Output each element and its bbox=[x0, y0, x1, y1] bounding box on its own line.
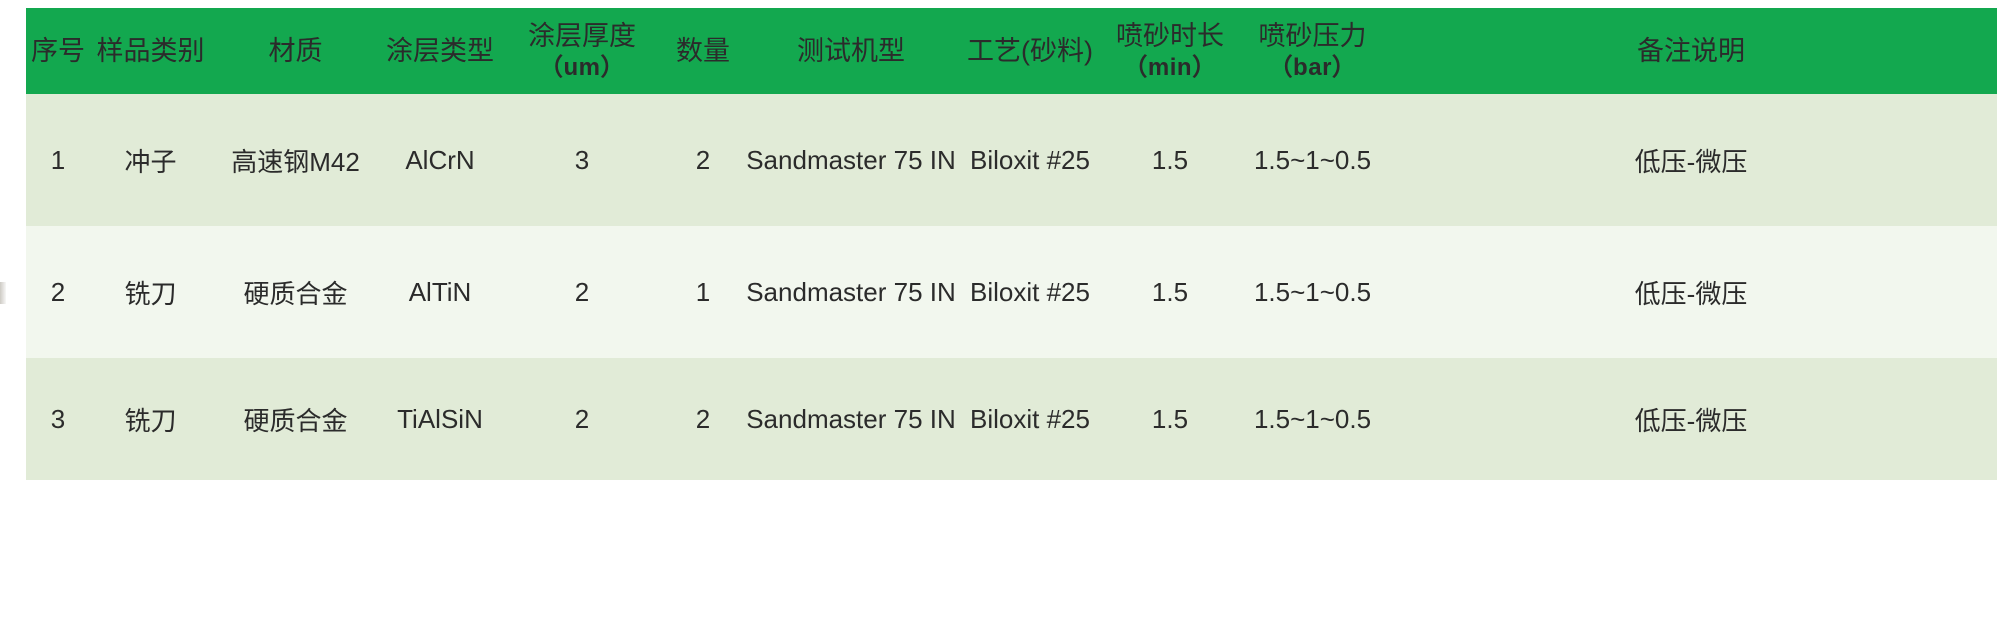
cell-remark[interactable]: 低压-微压 bbox=[1385, 94, 1997, 226]
cell-quantity[interactable]: 1 bbox=[664, 226, 742, 358]
column-header-pressure-label: 喷砂压力 bbox=[1259, 21, 1367, 51]
table-row[interactable]: 2 铣刀 硬质合金 AlTiN 2 1 Sandmaster 75 IN Bil… bbox=[26, 226, 1997, 358]
cell-process[interactable]: Biloxit #25 bbox=[960, 358, 1100, 480]
column-header-machine[interactable]: 测试机型 bbox=[742, 8, 960, 94]
column-header-remark[interactable]: 备注说明 bbox=[1385, 8, 1997, 94]
column-header-duration-unit: （min） bbox=[1104, 53, 1236, 82]
column-header-duration-label: 喷砂时长 bbox=[1116, 21, 1224, 51]
spreadsheet-canvas: 序号 样品类别 材质 涂层类型 涂层厚度 （um） 数量 bbox=[0, 0, 2015, 637]
cell-machine[interactable]: Sandmaster 75 IN bbox=[742, 226, 960, 358]
header-row: 序号 样品类别 材质 涂层类型 涂层厚度 （um） 数量 bbox=[26, 8, 1997, 94]
cell-machine[interactable]: Sandmaster 75 IN bbox=[742, 358, 960, 480]
cell-pressure[interactable]: 1.5~1~0.5 bbox=[1240, 94, 1385, 226]
column-header-quantity[interactable]: 数量 bbox=[664, 8, 742, 94]
cell-remark[interactable]: 低压-微压 bbox=[1385, 226, 1997, 358]
column-header-machine-label: 测试机型 bbox=[797, 36, 905, 66]
column-header-thickness-unit: （um） bbox=[504, 53, 660, 82]
cell-seq[interactable]: 2 bbox=[26, 226, 90, 358]
sandblasting-test-plan-table: 序号 样品类别 材质 涂层类型 涂层厚度 （um） 数量 bbox=[26, 8, 1997, 480]
cell-material[interactable]: 高速钢M42 bbox=[211, 94, 380, 226]
column-header-material-label: 材质 bbox=[269, 36, 323, 66]
column-header-pressure-unit: （bar） bbox=[1244, 53, 1381, 82]
cell-quantity[interactable]: 2 bbox=[664, 358, 742, 480]
cell-remark[interactable]: 低压-微压 bbox=[1385, 358, 1997, 480]
cell-category[interactable]: 铣刀 bbox=[90, 358, 211, 480]
column-header-duration[interactable]: 喷砂时长 （min） bbox=[1100, 8, 1240, 94]
cell-category[interactable]: 冲子 bbox=[90, 94, 211, 226]
cell-seq[interactable]: 1 bbox=[26, 94, 90, 226]
column-header-seq[interactable]: 序号 bbox=[26, 8, 90, 94]
column-header-process-label: 工艺(砂料) bbox=[967, 36, 1093, 66]
table-row[interactable]: 1 冲子 高速钢M42 AlCrN 3 2 Sandmaster 75 IN B… bbox=[26, 94, 1997, 226]
column-header-material[interactable]: 材质 bbox=[211, 8, 380, 94]
clipped-edge-glyph bbox=[0, 282, 6, 304]
column-header-quantity-label: 数量 bbox=[676, 36, 730, 66]
column-header-remark-label: 备注说明 bbox=[1637, 36, 1745, 66]
column-header-category[interactable]: 样品类别 bbox=[90, 8, 211, 94]
cell-coating[interactable]: AlTiN bbox=[380, 226, 500, 358]
cell-pressure[interactable]: 1.5~1~0.5 bbox=[1240, 226, 1385, 358]
cell-process[interactable]: Biloxit #25 bbox=[960, 94, 1100, 226]
cell-thickness[interactable]: 2 bbox=[500, 358, 664, 480]
table-header: 序号 样品类别 材质 涂层类型 涂层厚度 （um） 数量 bbox=[26, 8, 1997, 94]
column-header-pressure[interactable]: 喷砂压力 （bar） bbox=[1240, 8, 1385, 94]
cell-thickness[interactable]: 3 bbox=[500, 94, 664, 226]
cell-seq[interactable]: 3 bbox=[26, 358, 90, 480]
cell-coating[interactable]: AlCrN bbox=[380, 94, 500, 226]
cell-machine[interactable]: Sandmaster 75 IN bbox=[742, 94, 960, 226]
column-header-coating[interactable]: 涂层类型 bbox=[380, 8, 500, 94]
cell-coating[interactable]: TiAlSiN bbox=[380, 358, 500, 480]
cell-material[interactable]: 硬质合金 bbox=[211, 358, 380, 480]
cell-thickness[interactable]: 2 bbox=[500, 226, 664, 358]
column-header-process[interactable]: 工艺(砂料) bbox=[960, 8, 1100, 94]
column-header-thickness[interactable]: 涂层厚度 （um） bbox=[500, 8, 664, 94]
column-header-seq-label: 序号 bbox=[31, 36, 85, 66]
cell-duration[interactable]: 1.5 bbox=[1100, 226, 1240, 358]
table-row[interactable]: 3 铣刀 硬质合金 TiAlSiN 2 2 Sandmaster 75 IN B… bbox=[26, 358, 1997, 480]
cell-pressure[interactable]: 1.5~1~0.5 bbox=[1240, 358, 1385, 480]
cell-duration[interactable]: 1.5 bbox=[1100, 358, 1240, 480]
column-header-thickness-label: 涂层厚度 bbox=[528, 21, 636, 51]
table-body: 1 冲子 高速钢M42 AlCrN 3 2 Sandmaster 75 IN B… bbox=[26, 94, 1997, 480]
column-header-category-label: 样品类别 bbox=[97, 36, 205, 66]
cell-duration[interactable]: 1.5 bbox=[1100, 94, 1240, 226]
cell-category[interactable]: 铣刀 bbox=[90, 226, 211, 358]
column-header-coating-label: 涂层类型 bbox=[386, 36, 494, 66]
cell-material[interactable]: 硬质合金 bbox=[211, 226, 380, 358]
cell-process[interactable]: Biloxit #25 bbox=[960, 226, 1100, 358]
cell-quantity[interactable]: 2 bbox=[664, 94, 742, 226]
